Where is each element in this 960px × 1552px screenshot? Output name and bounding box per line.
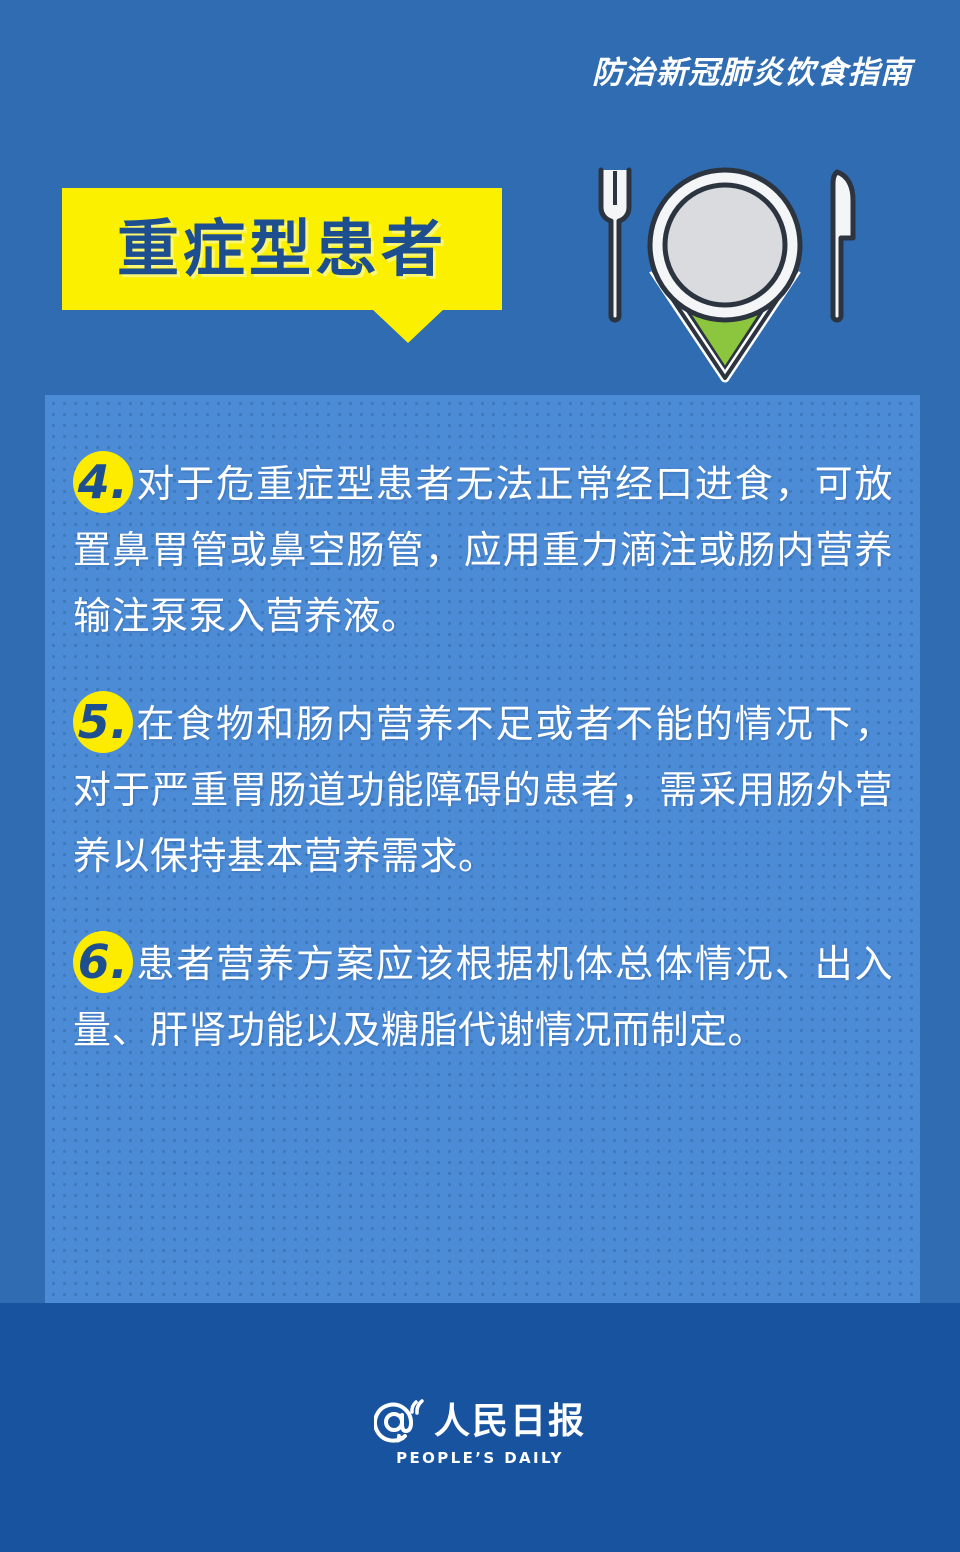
section-banner: 重症型患者 (62, 188, 502, 348)
brand-name-en: PEOPLE’S DAILY (396, 1451, 564, 1466)
item-text: 患者营养方案应该根据机体总体情况、出入量、肝肾功能以及糖脂代谢情况而制定。 (73, 942, 893, 1052)
guideline-list: 4.对于危重症型患者无法正常经口进食，可放置鼻胃管或鼻空肠管，应用重力滴注或肠内… (73, 447, 893, 1063)
poster-canvas: 防治新冠肺炎饮食指南 重症型患者 (0, 0, 960, 1552)
banner-box: 重症型患者 (62, 188, 502, 310)
badge-number: 4. (73, 451, 133, 513)
banner-title: 重症型患者 (117, 218, 447, 280)
header: 防治新冠肺炎饮食指南 (592, 56, 912, 90)
plate-icon (650, 170, 800, 320)
item-text: 在食物和肠内营养不足或者不能的情况下，对于严重胃肠道功能障碍的患者，需采用肠外营… (73, 702, 893, 878)
logo-row: 人民日报 (374, 1398, 586, 1446)
item-number-badge: 4. (73, 447, 133, 513)
item-number-badge: 6. (73, 927, 133, 993)
item-text-wrapper: 4.对于危重症型患者无法正常经口进食，可放置鼻胃管或鼻空肠管，应用重力滴注或肠内… (73, 447, 893, 649)
badge-number: 5. (73, 691, 133, 753)
cutlery-svg (575, 160, 875, 385)
brand-name-cn: 人民日报 (434, 1404, 586, 1440)
item-text: 对于危重症型患者无法正常经口进食，可放置鼻胃管或鼻空肠管，应用重力滴注或肠内营养… (73, 462, 893, 638)
page-title: 防治新冠肺炎饮食指南 (592, 56, 912, 90)
list-item: 6.患者营养方案应该根据机体总体情况、出入量、肝肾功能以及糖脂代谢情况而制定。 (73, 927, 893, 1063)
footer-logo: 人民日报 PEOPLE’S DAILY (0, 1398, 960, 1466)
banner-tail (372, 309, 444, 343)
at-speech-bubble-icon (374, 1398, 426, 1446)
cutlery-illustration (575, 160, 875, 385)
item-text-wrapper: 6.患者营养方案应该根据机体总体情况、出入量、肝肾功能以及糖脂代谢情况而制定。 (73, 927, 893, 1063)
content-panel: 4.对于危重症型患者无法正常经口进食，可放置鼻胃管或鼻空肠管，应用重力滴注或肠内… (45, 395, 920, 1303)
fork-icon (601, 170, 629, 320)
list-item: 4.对于危重症型患者无法正常经口进食，可放置鼻胃管或鼻空肠管，应用重力滴注或肠内… (73, 447, 893, 649)
list-item: 5.在食物和肠内营养不足或者不能的情况下，对于严重胃肠道功能障碍的患者，需采用肠… (73, 687, 893, 889)
item-text-wrapper: 5.在食物和肠内营养不足或者不能的情况下，对于严重胃肠道功能障碍的患者，需采用肠… (73, 687, 893, 889)
item-number-badge: 5. (73, 687, 133, 753)
knife-icon (833, 172, 853, 320)
badge-number: 6. (73, 931, 133, 993)
